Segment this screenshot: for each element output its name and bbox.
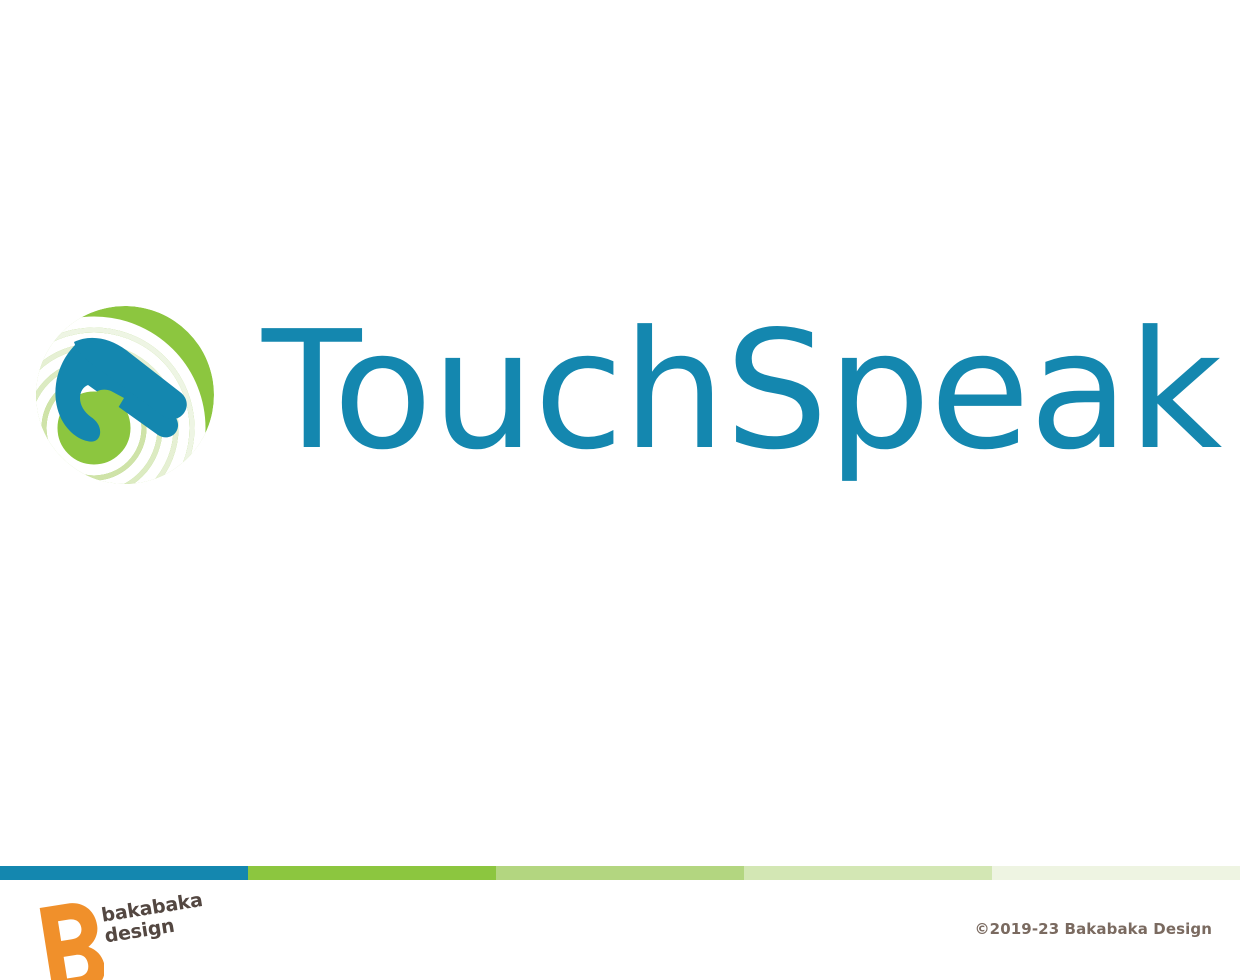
color-bar-segment-4 (744, 866, 992, 880)
footer: bakabaka design ©2019-23 Bakabaka Design (0, 880, 1240, 980)
wordmark-speak: Speak (725, 297, 1222, 486)
wordmark-touch: Touch (262, 297, 725, 486)
bakabaka-b-icon (32, 898, 104, 980)
title-lockup: TouchSpeak (0, 290, 1240, 500)
bakabaka-design-logo[interactable]: bakabaka design (32, 890, 217, 980)
footer-color-bar (0, 866, 1240, 880)
color-bar-segment-2 (248, 866, 496, 880)
page-title: TouchSpeak (262, 310, 1240, 473)
color-bar-segment-1 (0, 866, 248, 880)
bakabaka-design-wordmark: bakabaka design (100, 890, 208, 948)
touchspeak-logo-mark (30, 300, 220, 490)
copyright-text: ©2019-23 Bakabaka Design (975, 920, 1212, 938)
color-bar-segment-3 (496, 866, 744, 880)
color-bar-segment-5 (992, 866, 1240, 880)
